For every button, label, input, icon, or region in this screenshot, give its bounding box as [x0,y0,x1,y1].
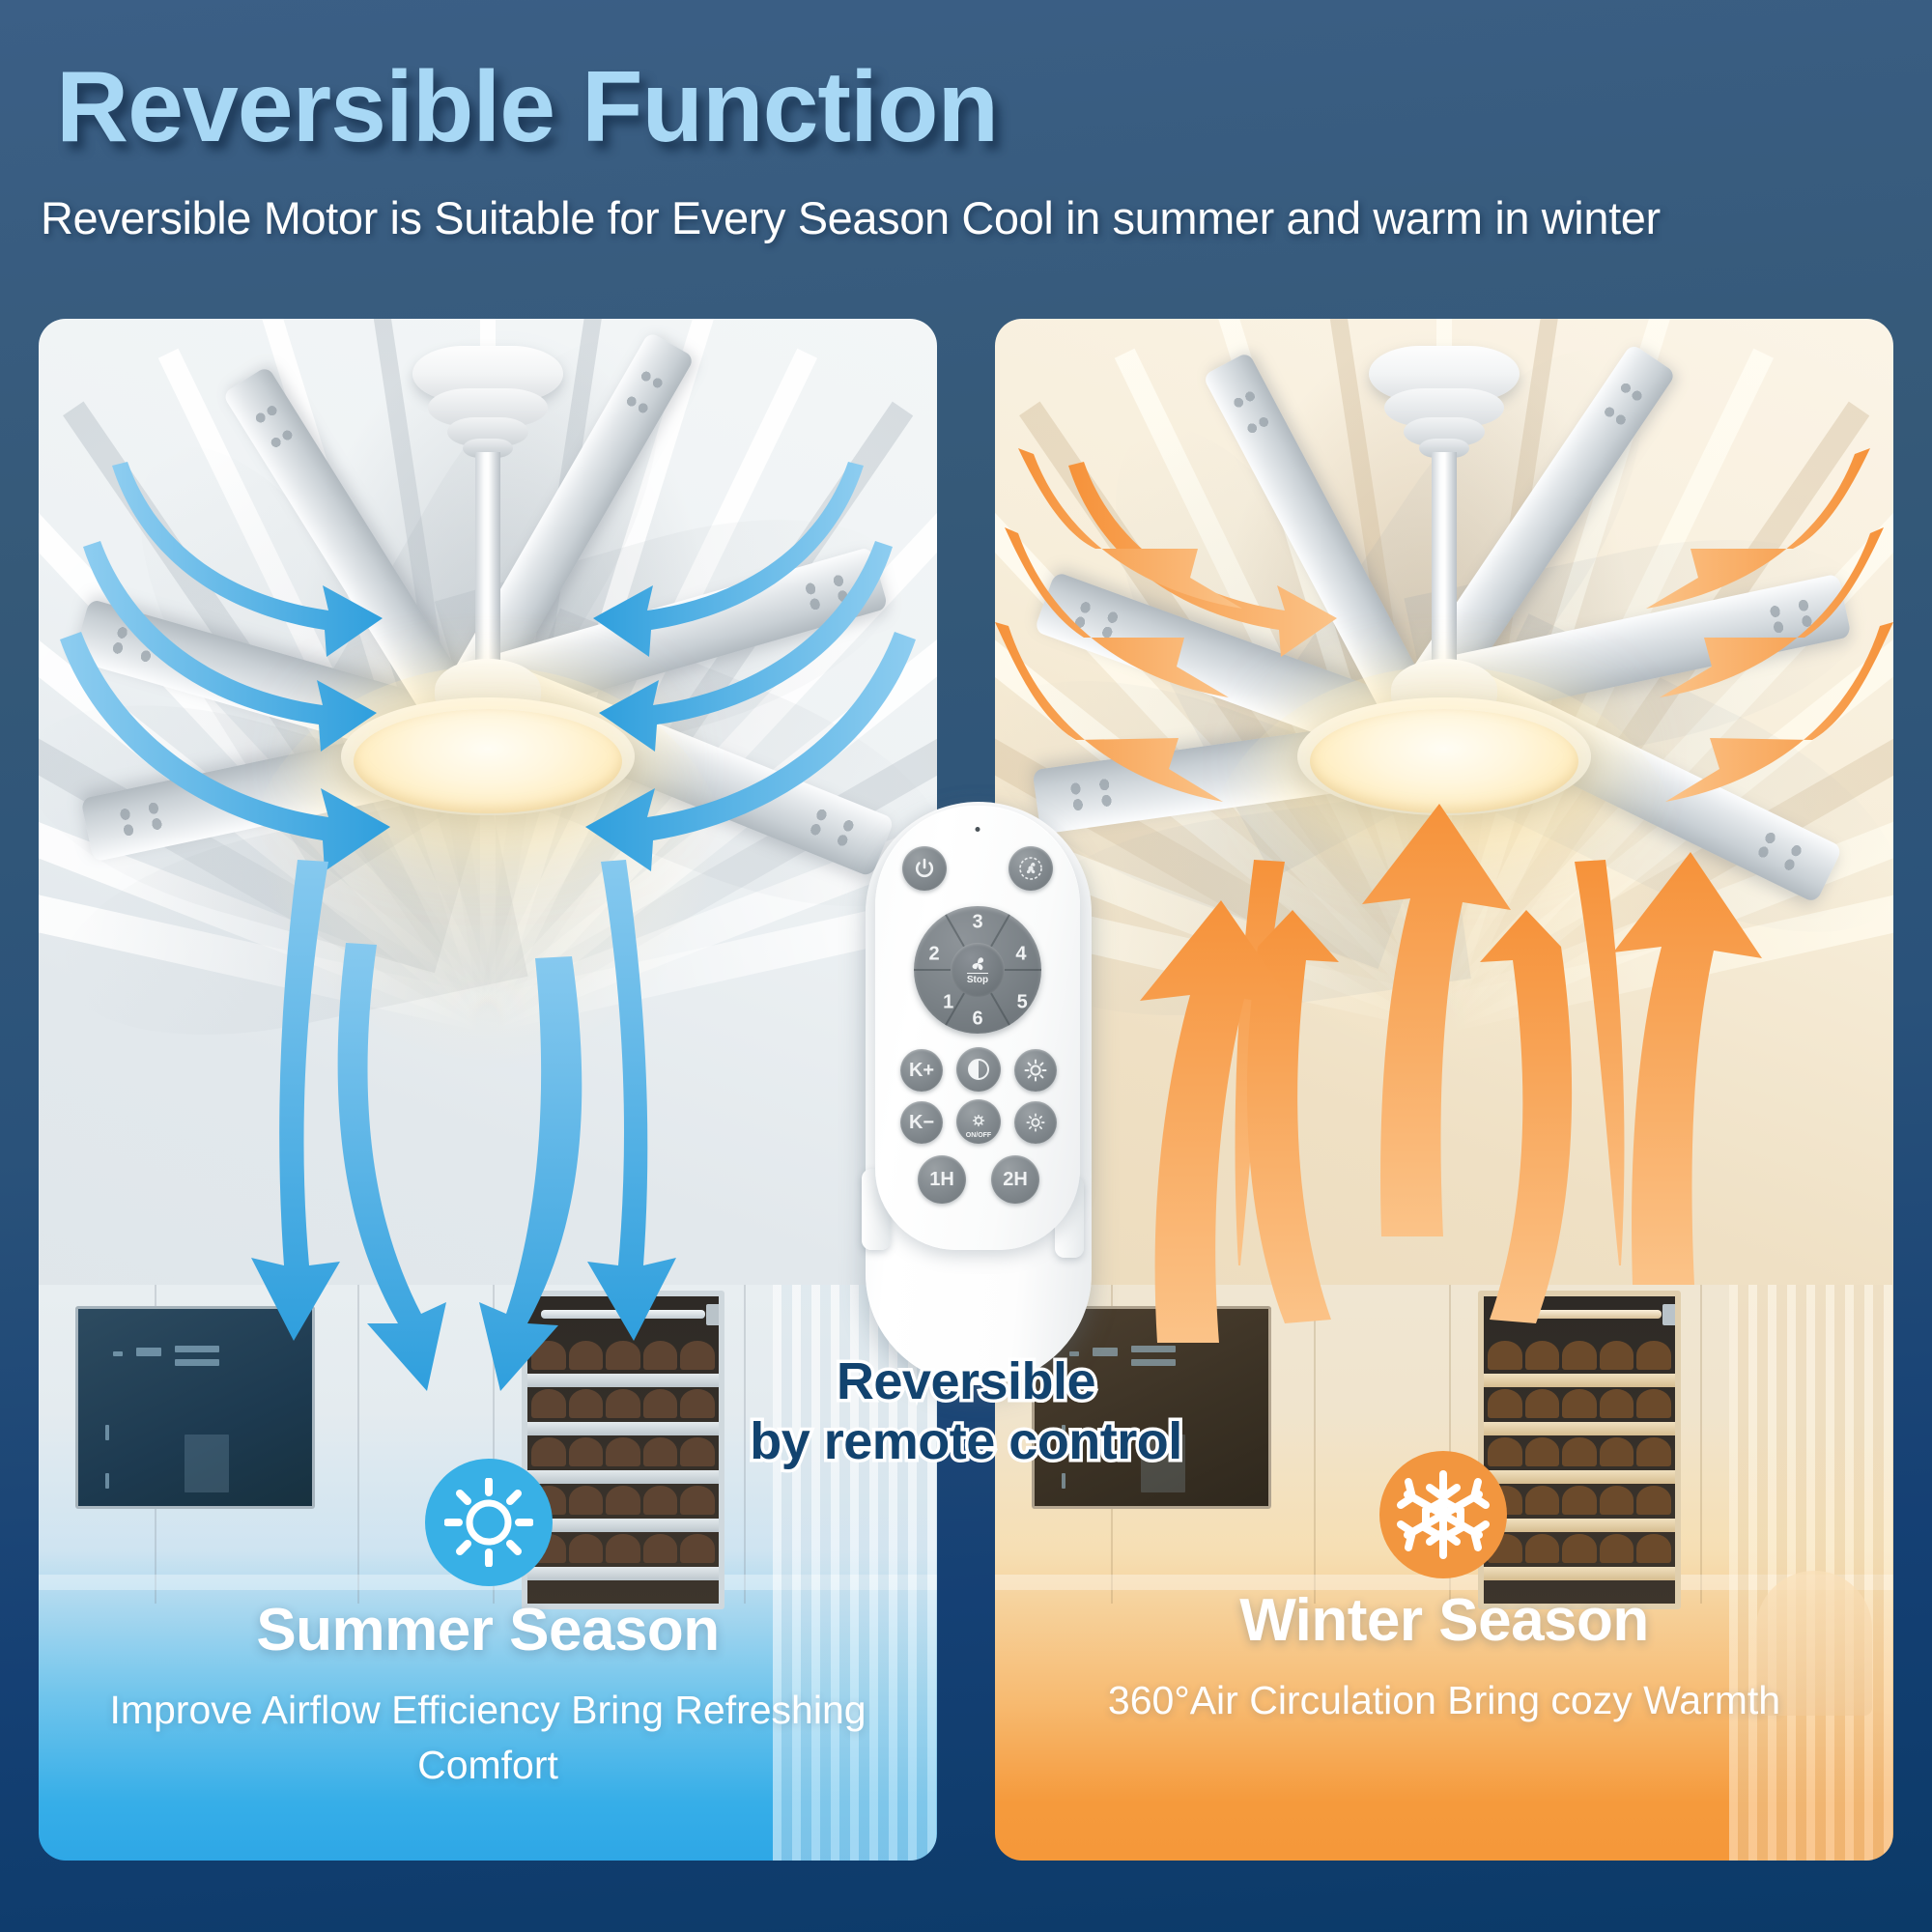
winter-season-title: Winter Season [995,1586,1893,1655]
speed-button-4[interactable]: 4 [1015,944,1026,966]
half-circle-icon [966,1057,991,1082]
fan-downrod [1432,452,1457,672]
ir-led-icon [976,827,980,832]
brightness-up-button[interactable] [1014,1049,1057,1092]
sun-icon [425,1459,553,1586]
page-subtitle: Reversible Motor is Suitable for Every S… [41,191,1661,244]
snowflake-icon [1379,1451,1507,1578]
half-brightness-button[interactable] [956,1047,1001,1092]
speed-button-3[interactable]: 3 [972,912,982,934]
fan-blade-icon [965,954,990,972]
brightness-up-icon [1024,1059,1047,1082]
power-icon [913,857,936,880]
winter-season-description: 360°Air Circulation Bring cozy Warmth [995,1673,1893,1728]
header: Reversible Function Reversible Motor is … [0,0,1932,290]
remote-control[interactable]: 1 2 3 4 5 6 Stop K+ [850,790,1107,1399]
summer-season-title: Summer Season [39,1596,937,1664]
remote-caption-line2: by remote control [750,1412,1182,1470]
color-temp-up-button[interactable]: K+ [900,1049,943,1092]
power-button[interactable] [902,846,947,891]
wine-fridge [1478,1291,1681,1609]
light-onoff-button[interactable]: ON/OFF [956,1099,1001,1144]
light-onoff-label: ON/OFF [956,1132,1001,1139]
stop-button[interactable]: Stop [951,943,1005,997]
remote-caption: Reversible by remote control [676,1352,1256,1471]
fan-reverse-button[interactable] [1009,846,1053,891]
timer-1h-button[interactable]: 1H [918,1155,966,1204]
page-title: Reversible Function [56,50,998,165]
speed-button-1[interactable]: 1 [943,992,953,1014]
fan-reverse-icon [1017,855,1044,882]
speed-button-5[interactable]: 5 [1017,992,1028,1014]
speed-button-6[interactable]: 6 [972,1009,982,1031]
fan-led-light [1310,709,1578,813]
remote-caption-line1: Reversible [837,1352,1095,1410]
fan-led-light [354,709,622,813]
panel-winter: Winter Season 360°Air Circulation Bring … [995,319,1893,1861]
summer-season-description: Improve Airflow Efficiency Bring Refresh… [39,1683,937,1792]
light-onoff-icon [969,1115,988,1129]
fan-downrod [475,452,500,672]
brightness-down-icon [1025,1112,1046,1133]
timer-2h-button[interactable]: 2H [991,1155,1039,1204]
stop-label: Stop [967,973,988,985]
oven-panel [75,1306,315,1509]
remote-body: 1 2 3 4 5 6 Stop K+ [875,806,1080,1250]
fan-speed-dial[interactable]: 1 2 3 4 5 6 Stop [914,906,1041,1034]
brightness-down-button[interactable] [1014,1101,1057,1144]
panel-summer: Summer Season Improve Airflow Efficiency… [39,319,937,1861]
color-temp-down-button[interactable]: K− [900,1101,943,1144]
speed-button-2[interactable]: 2 [929,944,940,966]
